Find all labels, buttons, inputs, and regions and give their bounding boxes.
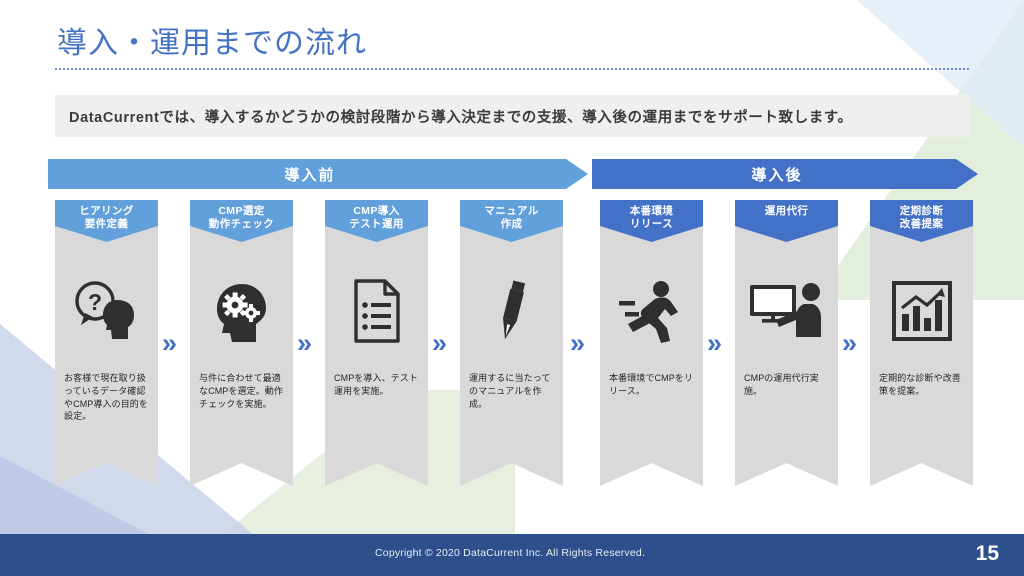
step-6-header: 運用代行	[735, 200, 838, 242]
step-5-header: 本番環境 リリース	[600, 200, 703, 242]
head-gears-icon	[190, 258, 293, 363]
process-step-3[interactable]: CMP導入 テスト運用 CMPを導入、テスト運用を実施。	[325, 200, 428, 486]
step-5-title-line2: リリース	[630, 218, 673, 231]
phase-banner-after-label: 導入後	[751, 164, 802, 185]
page-number: 15	[976, 542, 999, 566]
footer-bar: Copyright © 2020 DataCurrent Inc. All Ri…	[0, 534, 1024, 576]
step-7-header: 定期診断 改善提案	[870, 200, 973, 242]
step-1-title-line2: 要件定義	[85, 218, 129, 231]
step-separator-1: »	[162, 330, 173, 357]
process-step-6[interactable]: 運用代行 CMPの運用代行実施。	[735, 200, 838, 486]
person-monitor-icon	[735, 258, 838, 363]
step-4-header: マニュアル 作成	[460, 200, 563, 242]
process-step-1[interactable]: ヒアリング 要件定義 ? お客様で現在取り扱っているデータ確認やCMP導入の目的…	[55, 200, 158, 486]
phase-banner-after: 導入後	[592, 159, 978, 189]
process-steps: ヒアリング 要件定義 ? お客様で現在取り扱っているデータ確認やCMP導入の目的…	[0, 200, 1024, 490]
chart-analysis-icon	[870, 258, 973, 363]
step-separator-6: »	[842, 330, 853, 357]
process-step-7[interactable]: 定期診断 改善提案 定期的な診断や改善策を提案。	[870, 200, 973, 486]
title-block: 導入・運用までの流れ	[55, 26, 969, 70]
step-separator-2: »	[297, 330, 308, 357]
process-step-5[interactable]: 本番環境 リリース 本番環境でCMPをリリース。	[600, 200, 703, 486]
running-person-icon	[600, 258, 703, 363]
pen-icon	[460, 258, 563, 363]
step-7-title-line1: 定期診断	[900, 205, 944, 218]
step-4-title-line1: マニュアル	[484, 205, 538, 218]
step-separator-4: »	[570, 330, 581, 357]
step-3-title-line2: テスト運用	[349, 218, 404, 231]
step-7-title-line2: 改善提案	[900, 218, 944, 231]
step-2-header: CMP選定 動作チェック	[190, 200, 293, 242]
phase-banner-before: 導入前	[48, 159, 588, 189]
step-3-description: CMPを導入、テスト運用を実施。	[334, 372, 422, 398]
step-3-title-line1: CMP導入	[353, 205, 399, 218]
document-list-icon	[325, 258, 428, 363]
step-4-description: 運用するに当たってのマニュアルを作成。	[469, 372, 557, 410]
step-2-title-line1: CMP選定	[218, 205, 264, 218]
lead-banner: DataCurrentでは、導入するかどうかの検討段階から導入決定までの支援、導…	[55, 95, 969, 137]
process-step-2[interactable]: CMP選定 動作チェック	[190, 200, 293, 486]
slide-canvas: 導入・運用までの流れ DataCurrentでは、導入するかどうかの検討段階から…	[0, 0, 1024, 576]
page-title: 導入・運用までの流れ	[57, 26, 969, 62]
phase-banner-before-label: 導入前	[284, 164, 335, 185]
step-separator-3: »	[432, 330, 443, 357]
step-1-header: ヒアリング 要件定義	[55, 200, 158, 242]
step-2-description: 与件に合わせて最適なCMPを選定。動作チェックを実施。	[199, 372, 287, 410]
question-speech-head-icon: ?	[55, 258, 158, 363]
step-4-title-line2: 作成	[501, 218, 523, 231]
step-6-title-line1: 運用代行	[765, 205, 809, 218]
step-1-title-line1: ヒアリング	[79, 205, 134, 218]
step-2-title-line2: 動作チェック	[209, 218, 274, 231]
title-divider	[55, 68, 969, 70]
step-5-title-line1: 本番環境	[630, 205, 674, 218]
step-separator-5: »	[707, 330, 718, 357]
process-step-4[interactable]: マニュアル 作成 運用するに当たってのマニュアルを作成。	[460, 200, 563, 486]
step-5-description: 本番環境でCMPをリリース。	[609, 372, 697, 398]
step-6-description: CMPの運用代行実施。	[744, 372, 832, 398]
step-3-header: CMP導入 テスト運用	[325, 200, 428, 242]
lead-text: DataCurrentでは、導入するかどうかの検討段階から導入決定までの支援、導…	[55, 106, 853, 127]
svg-text:?: ?	[87, 289, 101, 315]
step-1-description: お客様で現在取り扱っているデータ確認やCMP導入の目的を設定。	[64, 372, 152, 423]
step-7-description: 定期的な診断や改善策を提案。	[879, 372, 967, 398]
copyright-text: Copyright © 2020 DataCurrent Inc. All Ri…	[375, 547, 645, 559]
